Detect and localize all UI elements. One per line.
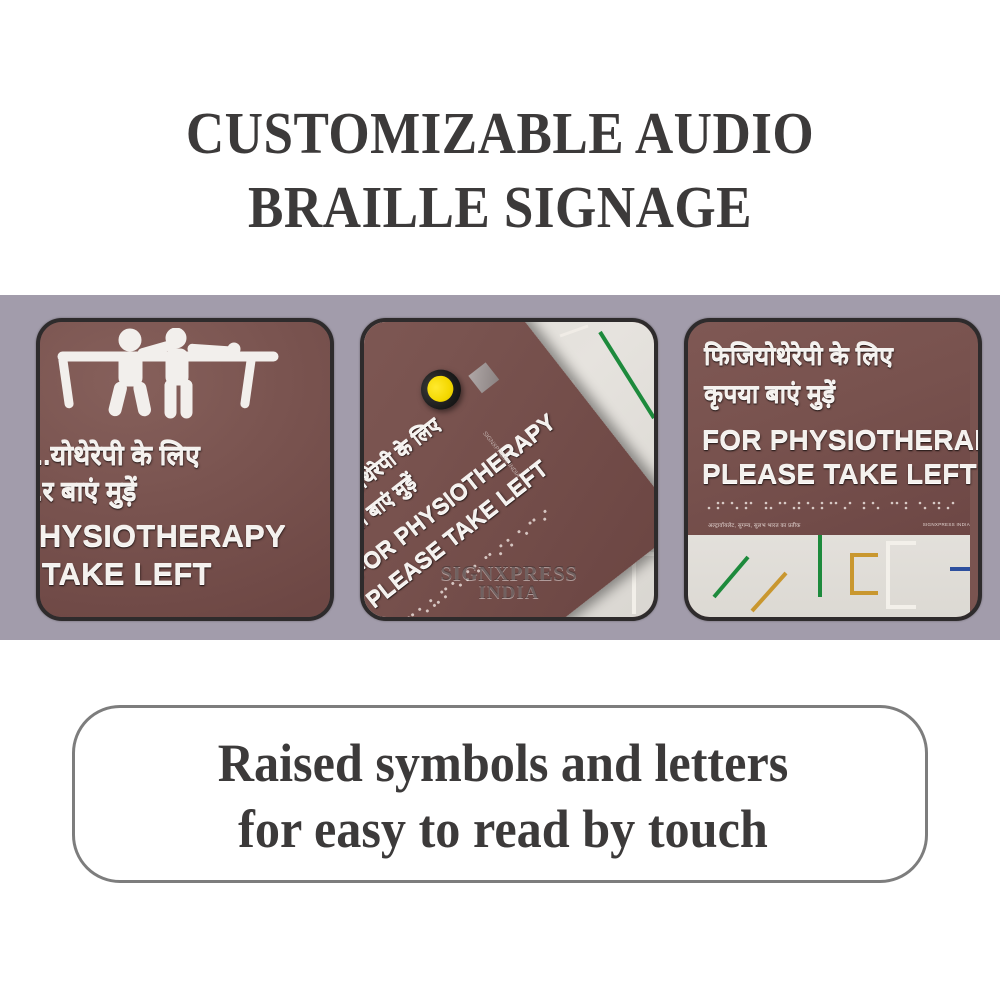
photo-card-angled[interactable]: फिजियोथेरेपी के लिए कृपया बाएं मुड़ें FO…: [360, 318, 658, 621]
sign-english-line-1: PHYSIOTHERAPY: [40, 520, 286, 551]
caption-line-2: for easy to read by touch: [105, 796, 901, 862]
photo-card-front-image: फिजियोथेरेपी के लिए कृपया बाएं मुड़ें FO…: [688, 322, 978, 617]
caption-line-1: Raised symbols and letters: [105, 730, 901, 796]
audio-play-button[interactable]: [413, 362, 469, 418]
page-title-line-1: CUSTOMIZABLE AUDIO: [50, 96, 950, 170]
caption-box: Raised symbols and letters for easy to r…: [72, 705, 928, 883]
sign-english-line-2: E TAKE LEFT: [40, 558, 212, 589]
photo-band: ...योथेरेपी के लिए ...र बाएं मुड़ें PHYS…: [0, 295, 1000, 640]
sign-hindi-line-1: फिजियोथेरेपी के लिए: [704, 344, 893, 369]
page-title-line-2: BRAILLE SIGNAGE: [50, 170, 950, 244]
sign-hindi-line-1: ...योथेरेपी के लिए: [40, 442, 200, 469]
sign-fine-print-hindi: अल्ट्रावॉयलेट, सुगम्य, सुलभ भारत का प्रत…: [708, 521, 801, 529]
sign-english-line-1: FOR PHYSIOTHERAPY: [702, 426, 978, 454]
sign-english-line-2: PLEASE TAKE LEFT: [702, 460, 977, 488]
physiotherapy-parallel-bars-icon: [48, 328, 322, 438]
photo-card-closeup-image: ...योथेरेपी के लिए ...र बाएं मुड़ें PHYS…: [40, 322, 330, 617]
sign-hindi-line-2: कृपया बाएं मुड़ें: [704, 382, 835, 407]
photo-card-closeup[interactable]: ...योथेरेपी के लिए ...र बाएं मुड़ें PHYS…: [36, 318, 334, 621]
sign-fine-print-brand: SIGNXPRESS INDIA: [923, 522, 970, 527]
braille-dots: [706, 500, 956, 512]
page-title: CUSTOMIZABLE AUDIO BRAILLE SIGNAGE: [50, 96, 950, 244]
nfc-tag-icon: [468, 362, 499, 393]
photo-card-front[interactable]: फिजियोथेरेपी के लिए कृपया बाएं मुड़ें FO…: [684, 318, 982, 621]
photo-card-angled-image: फिजियोथेरेपी के लिए कृपया बाएं मुड़ें FO…: [364, 322, 654, 617]
sign-hindi-line-2: ...र बाएं मुड़ें: [40, 478, 136, 505]
tactile-floor-lines: [688, 535, 970, 617]
caption-text: Raised symbols and letters for easy to r…: [105, 730, 901, 862]
photo-gallery: ...योथेरेपी के लिए ...र बाएं मुड़ें PHYS…: [0, 295, 1000, 640]
